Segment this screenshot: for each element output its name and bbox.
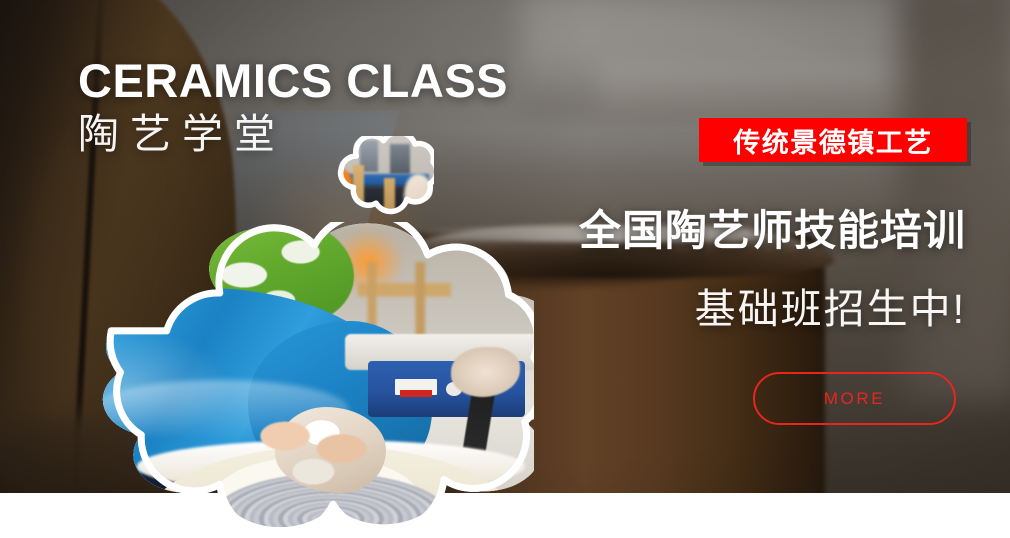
status-badge: 传统景德镇工艺 bbox=[699, 118, 967, 162]
headline: 全国陶艺师技能培训 bbox=[579, 197, 966, 258]
large-photo-bubble bbox=[72, 222, 534, 538]
bottom-white-strip bbox=[0, 493, 1010, 538]
ceramics-class-banner: CERAMICS CLASS 陶艺学堂 传统景德镇工艺 全国陶艺师技能培训 基础… bbox=[0, 0, 1010, 538]
small-photo-bubble bbox=[318, 136, 434, 232]
page-title-chinese: 陶艺学堂 bbox=[78, 112, 286, 157]
shelf-gloved-hand bbox=[404, 174, 434, 224]
shelf-orange-object bbox=[318, 169, 353, 225]
status-badge-label: 传统景德镇工艺 bbox=[733, 121, 933, 160]
page-title-english: CERAMICS CLASS bbox=[78, 57, 508, 105]
more-button[interactable]: MORE bbox=[753, 372, 956, 425]
subheadline: 基础班招生中! bbox=[695, 275, 966, 335]
shelf-wood-post-left bbox=[353, 165, 365, 230]
child-hands bbox=[238, 394, 395, 500]
control-box-label bbox=[395, 379, 437, 396]
more-button-label: MORE bbox=[824, 389, 885, 409]
large-photo-image bbox=[72, 222, 534, 538]
shelf-jar-right bbox=[390, 144, 410, 175]
small-photo-image bbox=[318, 136, 434, 232]
